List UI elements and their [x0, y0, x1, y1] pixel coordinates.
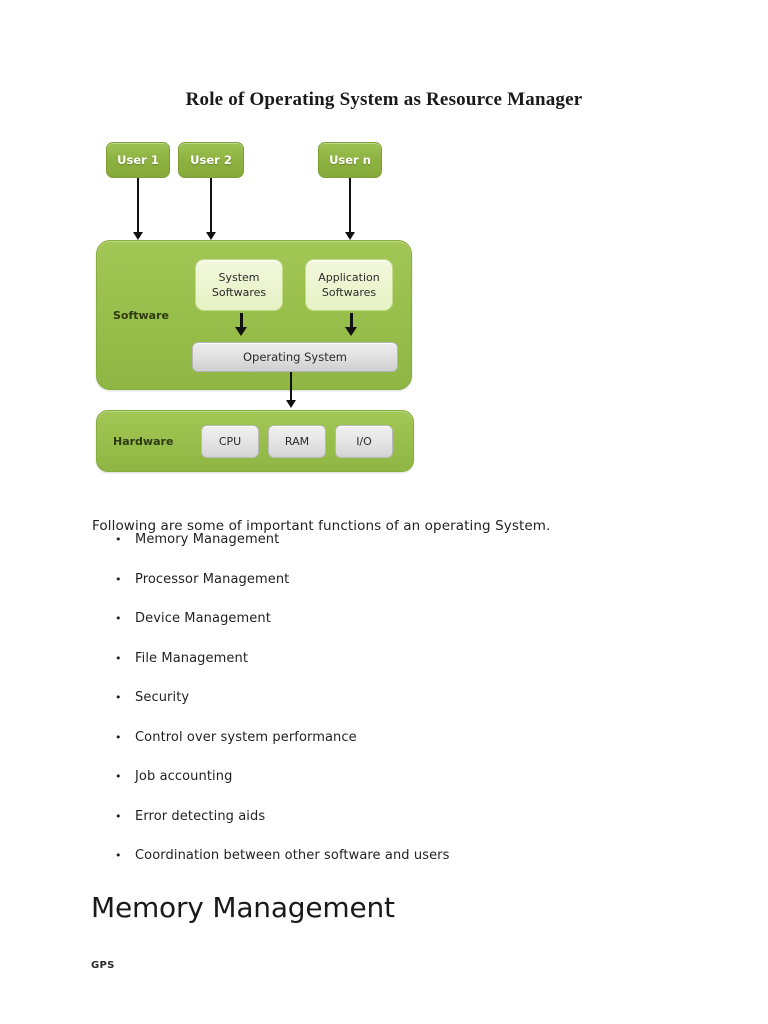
hardware-box-io: I/O — [335, 425, 393, 458]
user-box-1: User 1 — [106, 142, 170, 178]
hardware-box-cpu: CPU — [201, 425, 259, 458]
user-box-n-label: User n — [329, 153, 371, 167]
list-item: Error detecting aids — [92, 805, 692, 845]
os-resource-manager-diagram: User 1 User 2 User n Software System Sof… — [94, 136, 424, 486]
application-softwares-box: Application Softwares — [305, 259, 393, 311]
user-box-2-label: User 2 — [190, 153, 232, 167]
application-softwares-line2: Softwares — [322, 285, 376, 300]
arrowhead-icon-os-to-hardware — [286, 400, 296, 408]
arrow-user1-to-software — [137, 178, 139, 234]
hardware-box-cpu-label: CPU — [219, 435, 241, 448]
hardware-box-io-label: I/O — [356, 435, 372, 448]
arrowhead-icon-user1 — [133, 232, 143, 240]
arrowhead-icon-user2 — [206, 232, 216, 240]
application-softwares-line1: Application — [318, 270, 379, 285]
user-box-2: User 2 — [178, 142, 244, 178]
os-functions-list: Memory Management Processor Management D… — [92, 528, 692, 884]
list-item: Device Management — [92, 607, 692, 647]
hardware-panel: Hardware CPU RAM I/O — [96, 410, 414, 472]
list-item: File Management — [92, 647, 692, 687]
list-item: Memory Management — [92, 528, 692, 568]
software-panel-label: Software — [113, 309, 169, 322]
hardware-panel-label: Hardware — [113, 435, 173, 448]
hardware-box-ram: RAM — [268, 425, 326, 458]
arrow-usern-to-software — [349, 178, 351, 234]
arrowhead-icon-system-to-os — [235, 327, 247, 336]
list-item: Coordination between other software and … — [92, 844, 692, 884]
arrowhead-icon-application-to-os — [345, 327, 357, 336]
user-box-n: User n — [318, 142, 382, 178]
list-item: Security — [92, 686, 692, 726]
list-item: Control over system performance — [92, 726, 692, 766]
page-title: Role of Operating System as Resource Man… — [0, 89, 768, 111]
footer-note: GPS — [91, 960, 115, 971]
operating-system-bar: Operating System — [192, 342, 398, 372]
software-panel: Software System Softwares Application So… — [96, 240, 412, 390]
system-softwares-line1: System — [218, 270, 259, 285]
system-softwares-box: System Softwares — [195, 259, 283, 311]
system-softwares-line2: Softwares — [212, 285, 266, 300]
list-item: Job accounting — [92, 765, 692, 805]
arrowhead-icon-usern — [345, 232, 355, 240]
list-item: Processor Management — [92, 568, 692, 608]
arrow-os-to-hardware — [290, 372, 292, 402]
section-heading-memory-management: Memory Management — [91, 891, 395, 924]
user-box-1-label: User 1 — [117, 153, 159, 167]
hardware-box-ram-label: RAM — [285, 435, 309, 448]
operating-system-label: Operating System — [243, 350, 347, 364]
arrow-user2-to-software — [210, 178, 212, 234]
